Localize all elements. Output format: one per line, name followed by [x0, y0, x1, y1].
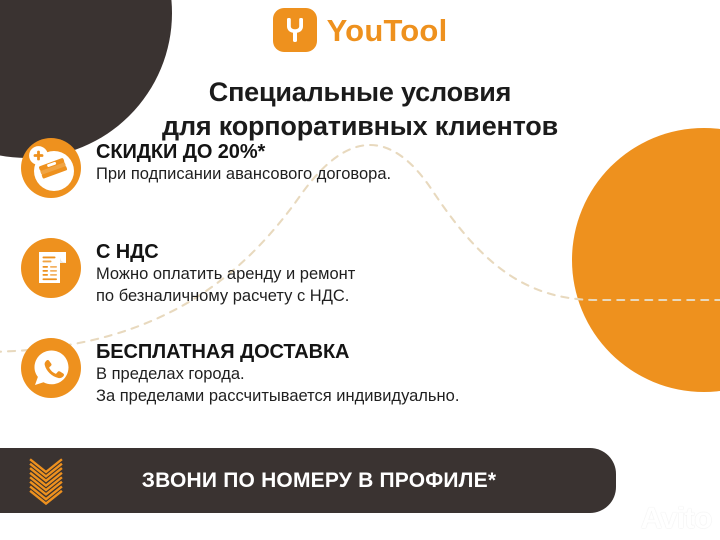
list-item: БЕСПЛАТНАЯ ДОСТАВКА В пределах города. З… — [20, 336, 459, 408]
feature-subtitle-line: по безналичному расчету с НДС. — [96, 286, 355, 308]
money-stack-plus-icon — [20, 137, 82, 199]
feature-title: БЕСПЛАТНАЯ ДОСТАВКА — [96, 341, 459, 364]
page-title: Специальные условия для корпоративных кл… — [0, 75, 720, 143]
promo-banner: YouTool Специальные условия для корпорат… — [0, 0, 720, 540]
feature-subtitle-line: В пределах города. — [96, 364, 459, 386]
cta-label: ЗВОНИ ПО НОМЕРУ В ПРОФИЛЕ* — [68, 469, 616, 493]
feature-title: С НДС — [96, 241, 355, 264]
avito-wordmark: Avito — [641, 504, 712, 534]
triple-chevron-down-icon — [24, 456, 68, 506]
feature-subtitle: В пределах города. За пределами рассчиты… — [96, 364, 459, 408]
feature-subtitle-line: Можно оплатить аренду и ремонт — [96, 264, 355, 286]
avito-dots-icon — [612, 503, 638, 534]
feature-subtitle-line: За пределами рассчитывается индивидуальн… — [96, 386, 459, 408]
brand-wordmark: YouTool — [327, 15, 448, 46]
feature-text: БЕСПЛАТНАЯ ДОСТАВКА В пределах города. З… — [96, 336, 459, 408]
youtool-tuning-fork-icon — [273, 8, 317, 52]
feature-subtitle: При подписании авансового договора. — [96, 164, 391, 186]
feature-title: СКИДКИ ДО 20%* — [96, 141, 391, 164]
call-to-action-bar[interactable]: ЗВОНИ ПО НОМЕРУ В ПРОФИЛЕ* — [0, 448, 616, 513]
brand-logo: YouTool — [0, 8, 720, 52]
avito-watermark: Avito — [612, 503, 712, 534]
headline-line-1: Специальные условия — [0, 75, 720, 109]
phone-speech-bubble-icon — [20, 337, 82, 399]
feature-subtitle-line: При подписании авансового договора. — [96, 164, 391, 186]
list-item: СКИДКИ ДО 20%* При подписании авансового… — [20, 136, 391, 199]
invoice-document-icon — [20, 237, 82, 299]
list-item: С НДС Можно оплатить аренду и ремонт по … — [20, 236, 355, 308]
feature-subtitle: Можно оплатить аренду и ремонт по безнал… — [96, 264, 355, 308]
feature-text: С НДС Можно оплатить аренду и ремонт по … — [96, 236, 355, 308]
feature-text: СКИДКИ ДО 20%* При подписании авансового… — [96, 136, 391, 186]
